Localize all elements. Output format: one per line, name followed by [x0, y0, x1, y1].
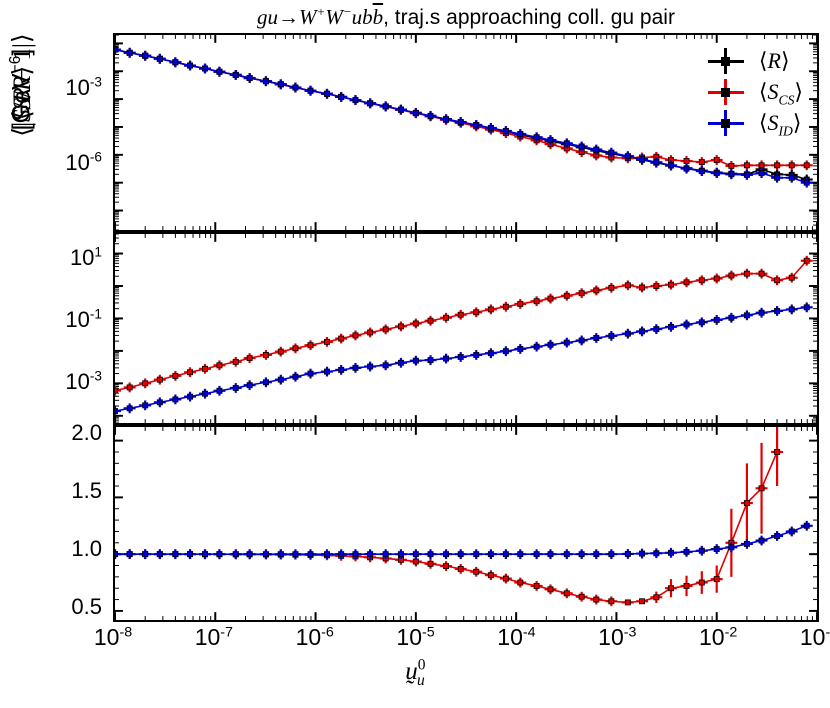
middle-panel — [113, 232, 819, 425]
legend-entry-S-ID: ⟨SID⟩ — [703, 107, 803, 138]
series-⟨S_ID⟩ — [115, 302, 813, 416]
figure-root: gu→W+W−ubb, traj.s approaching coll. gu … — [0, 0, 830, 708]
series-⟨S_CS⟩ — [115, 256, 813, 396]
ytick-bot-0: 2.0 — [71, 420, 102, 446]
bottom-panel-plot — [115, 427, 817, 620]
y-minor-ticks — [115, 441, 817, 611]
xtick-5: 10-3 — [598, 624, 636, 651]
ytick-bot-3: 0.5 — [71, 594, 102, 620]
figure-title: gu→W+W−ubb, traj.s approaching coll. gu … — [113, 2, 819, 32]
x-axis-label: ṵ0u — [0, 658, 830, 686]
legend-marker-S-ID — [703, 110, 749, 136]
xtick-6: 10-2 — [699, 624, 737, 651]
bot-panel-ylabel: ⟨S/R⟩ — [7, 23, 37, 163]
legend: ⟨R⟩ ⟨SCS⟩ ⟨SID⟩ — [703, 45, 803, 138]
xtick-2: 10-6 — [296, 624, 334, 651]
title-process: gu→W+W−ubb — [257, 5, 383, 29]
legend-entry-R: ⟨R⟩ — [703, 45, 803, 76]
ytick-bot-1: 1.5 — [71, 478, 102, 504]
xtick-3: 10-5 — [396, 624, 434, 651]
xtick-1: 10-7 — [195, 624, 233, 651]
legend-marker-R — [703, 48, 749, 74]
bottom-panel — [113, 425, 819, 622]
xtick-4: 10-4 — [497, 624, 535, 651]
legend-marker-S-CS — [703, 79, 749, 105]
series-⟨S_CS⟩ — [115, 427, 783, 606]
legend-entry-S-CS: ⟨SCS⟩ — [703, 76, 803, 107]
xtick-0: 10-8 — [94, 624, 132, 651]
x-minor-ticks — [115, 427, 817, 620]
top-panel: ⟨R⟩ ⟨SCS⟩ ⟨SID⟩ — [113, 33, 819, 232]
legend-label-S-CS: ⟨SCS⟩ — [759, 79, 803, 105]
series-⟨S_ID⟩ — [115, 521, 813, 559]
title-rest: , traj.s approaching coll. gu pair — [383, 6, 675, 29]
middle-panel-plot — [115, 234, 817, 423]
legend-label-R: ⟨R⟩ — [759, 48, 790, 74]
xtick-7: 10-1 — [800, 624, 830, 651]
ytick-bot-2: 1.0 — [71, 536, 102, 562]
legend-label-S-ID: ⟨SID⟩ — [759, 110, 802, 136]
